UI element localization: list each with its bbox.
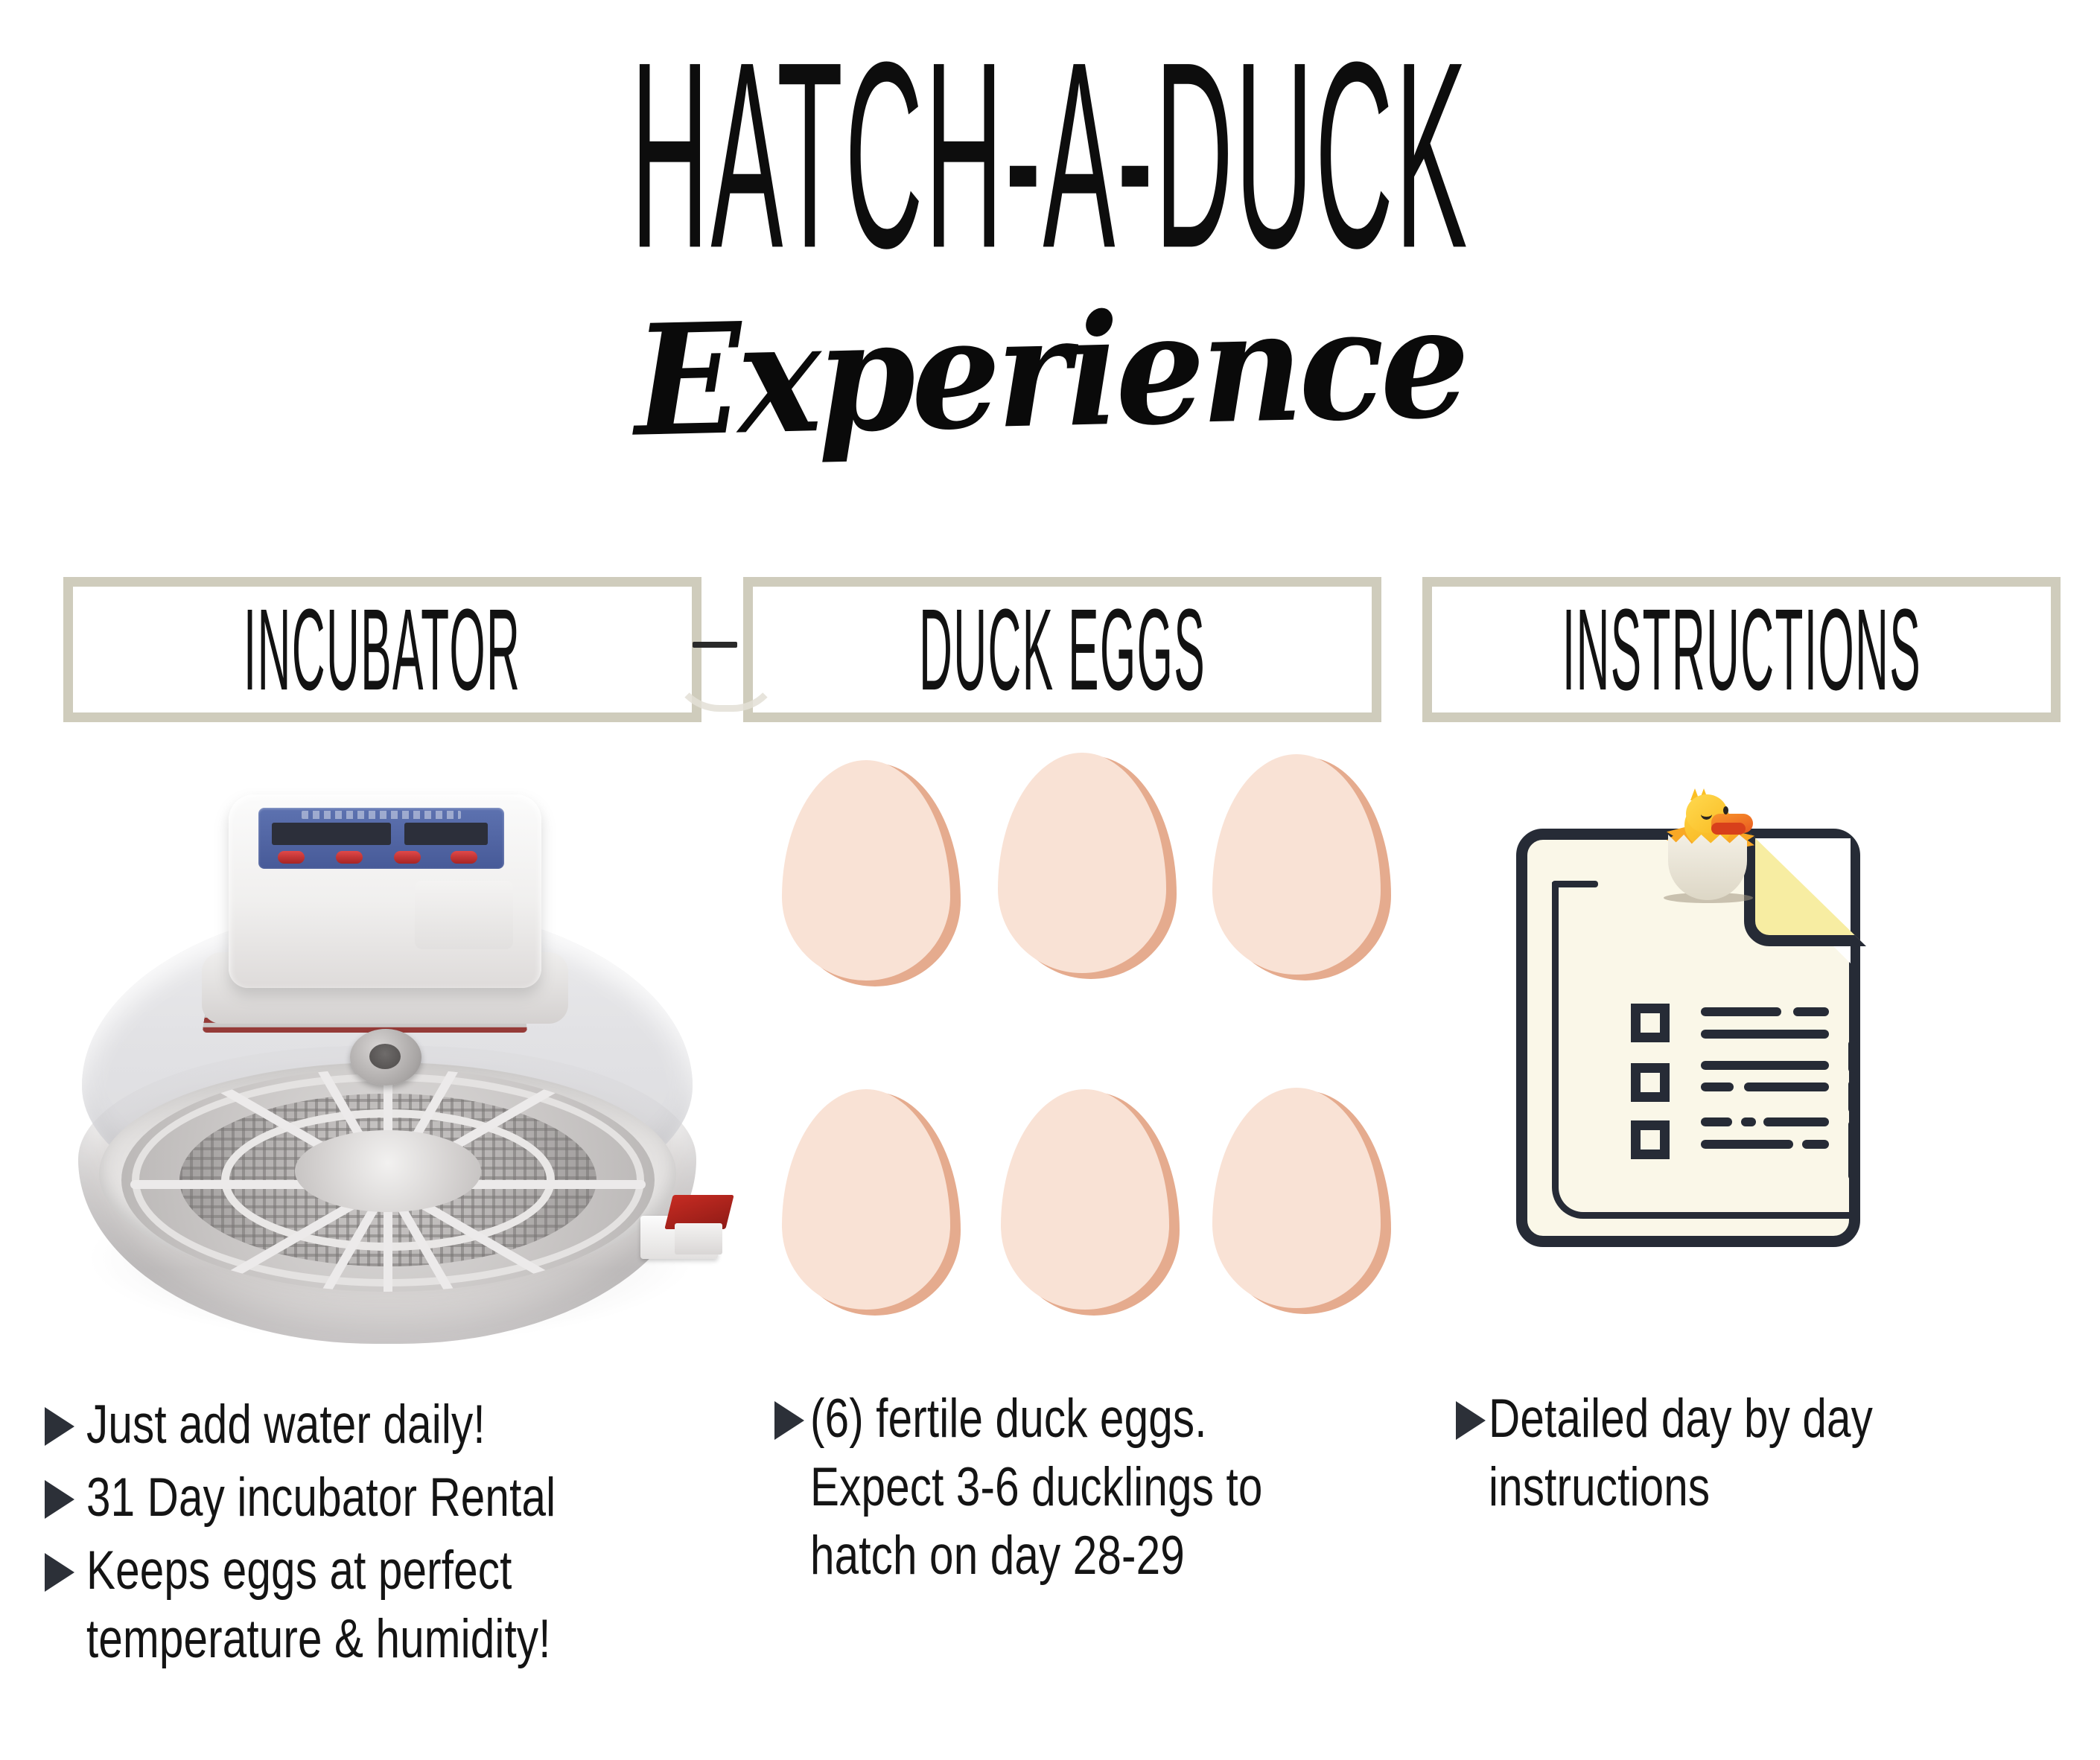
triangle-bullet-icon — [45, 1553, 74, 1592]
tray-hub — [295, 1130, 481, 1212]
doc-side-dash-1 — [1848, 1040, 1856, 1073]
section-heading-label-duck-eggs: DUCK EGGS — [919, 592, 1206, 708]
duckling-lower-beak — [1711, 823, 1746, 835]
instructions-document-icon — [1498, 793, 1900, 1284]
bullet-text: (6) fertile duck eggs. Expect 3-6 duckli… — [810, 1385, 1288, 1590]
panel-button-4[interactable] — [451, 851, 477, 864]
egg-1 — [789, 763, 961, 986]
duck-eggs-illustration — [789, 763, 1460, 1359]
doc-line-2a — [1701, 1061, 1829, 1070]
list-item: (6) fertile duck eggs. Expect 3-6 duckli… — [774, 1385, 1407, 1590]
separator-dash-icon — [693, 642, 737, 648]
bullet-text: Just add water daily! — [86, 1391, 625, 1459]
doc-line-2c — [1744, 1083, 1829, 1091]
water-port-front — [675, 1223, 722, 1254]
list-item: Detailed day by day instructions — [1456, 1385, 2096, 1522]
incubator-vent — [415, 881, 513, 949]
page-subtitle: Experience — [83, 274, 2017, 471]
list-item: Just add water daily! — [45, 1391, 760, 1459]
duck-eggs-bullet-list: (6) fertile duck eggs. Expect 3-6 duckli… — [774, 1385, 1407, 1595]
triangle-bullet-icon — [45, 1480, 74, 1519]
egg-2 — [1005, 756, 1177, 979]
bullet-text: Detailed day by day instructions — [1489, 1385, 1975, 1522]
incubator-control-panel[interactable] — [258, 808, 504, 869]
doc-line-1c — [1701, 1030, 1829, 1039]
doc-line-2b — [1701, 1083, 1734, 1091]
panel-brand-label — [302, 811, 461, 819]
incubator-egg-tray — [121, 1068, 655, 1292]
instructions-bullet-list: Detailed day by day instructions — [1456, 1385, 2096, 1526]
hatching-duckling-icon — [1655, 788, 1759, 900]
incubator-photo — [56, 785, 726, 1374]
section-heading-box-incubator: INCUBATOR — [63, 577, 701, 722]
egg-3 — [1220, 757, 1391, 981]
incubator-turner-knob — [350, 1029, 421, 1085]
section-heading-label-incubator: INCUBATOR — [244, 592, 521, 708]
doc-side-dash-3 — [1848, 1120, 1856, 1180]
panel-button-2[interactable] — [336, 851, 363, 864]
doc-line-3d — [1701, 1140, 1793, 1149]
doc-line-1a — [1701, 1007, 1781, 1016]
egg-5 — [1008, 1092, 1180, 1316]
document-inner-border-top — [1552, 881, 1598, 887]
eggshell-half — [1668, 835, 1747, 900]
panel-button-1[interactable] — [278, 851, 305, 864]
egg-6 — [1220, 1091, 1391, 1314]
triangle-bullet-icon — [1456, 1401, 1486, 1440]
egg-4 — [789, 1092, 961, 1316]
decorative-arc — [670, 618, 782, 712]
temperature-display — [272, 823, 391, 845]
doc-line-3e — [1802, 1140, 1829, 1149]
incubator-bullet-list: Just add water daily! 31 Day incubator R… — [45, 1391, 760, 1678]
poster-canvas: HATCH-A-DUCK Experience INCUBATOR DUCK E… — [0, 0, 2100, 1760]
list-item: 31 Day incubator Rental — [45, 1464, 760, 1532]
doc-line-3b — [1741, 1117, 1756, 1126]
section-heading-box-instructions: INSTRUCTIONS — [1422, 577, 2061, 722]
checkbox-3[interactable] — [1631, 1120, 1670, 1159]
section-heading-label-instructions: INSTRUCTIONS — [1562, 592, 1921, 708]
humidity-display — [404, 823, 488, 845]
checkbox-1[interactable] — [1631, 1004, 1670, 1042]
section-heading-box-duck-eggs: DUCK EGGS — [743, 577, 1381, 722]
bullet-text: 31 Day incubator Rental — [86, 1464, 625, 1532]
section-heading-row: INCUBATOR DUCK EGGS INSTRUCTIONS — [0, 577, 2100, 722]
triangle-bullet-icon — [774, 1401, 804, 1440]
doc-side-dash-2 — [1848, 1080, 1856, 1113]
checkbox-2[interactable] — [1631, 1063, 1670, 1102]
list-item: Keeps eggs at perfect temperature & humi… — [45, 1537, 760, 1674]
incubator-water-port — [640, 1193, 739, 1262]
bullet-text: Keeps eggs at perfect temperature & humi… — [86, 1537, 625, 1674]
duckling-eye-right — [1723, 806, 1728, 814]
triangle-bullet-icon — [45, 1407, 74, 1446]
doc-line-3a — [1701, 1117, 1732, 1126]
panel-button-3[interactable] — [394, 851, 421, 864]
incubator-lid — [229, 794, 541, 988]
doc-line-1b — [1793, 1007, 1829, 1016]
document-inner-border — [1552, 882, 1850, 1219]
doc-line-3c — [1763, 1117, 1829, 1126]
page-title: HATCH-A-DUCK — [588, 22, 1512, 287]
